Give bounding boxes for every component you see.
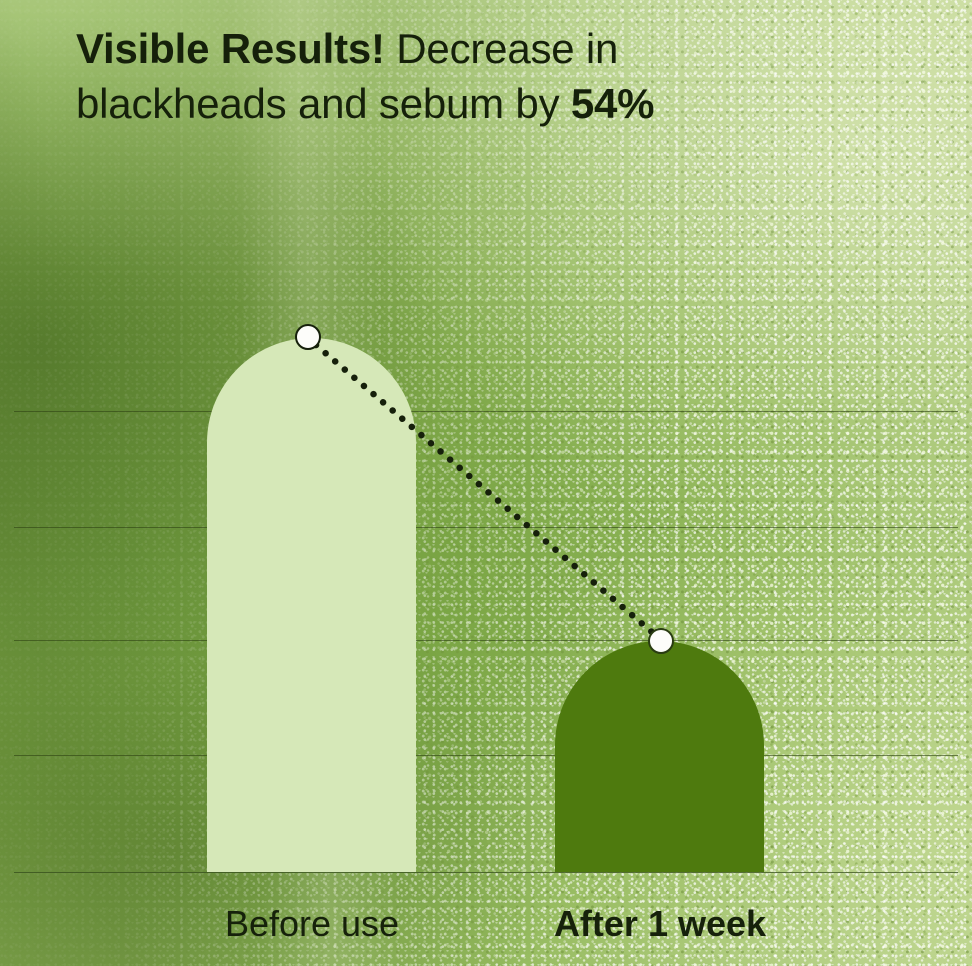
gridline	[14, 755, 958, 756]
bar-after-1-week	[555, 641, 764, 872]
gridline	[14, 527, 958, 528]
data-point-before-use	[295, 324, 321, 350]
x-axis-label-after-1-week: After 1 week	[525, 903, 795, 945]
x-axis-label-before-use: Before use	[177, 903, 447, 945]
bar-before-use	[207, 338, 416, 872]
gridline	[14, 411, 958, 412]
axis-baseline	[14, 872, 958, 873]
data-point-after-1-week	[648, 628, 674, 654]
gridline	[14, 640, 958, 641]
promo-chart-card: Visible Results! Decrease in blackheads …	[0, 0, 972, 966]
gridlines	[0, 0, 972, 966]
bar-chart: Before use After 1 week	[0, 0, 972, 966]
